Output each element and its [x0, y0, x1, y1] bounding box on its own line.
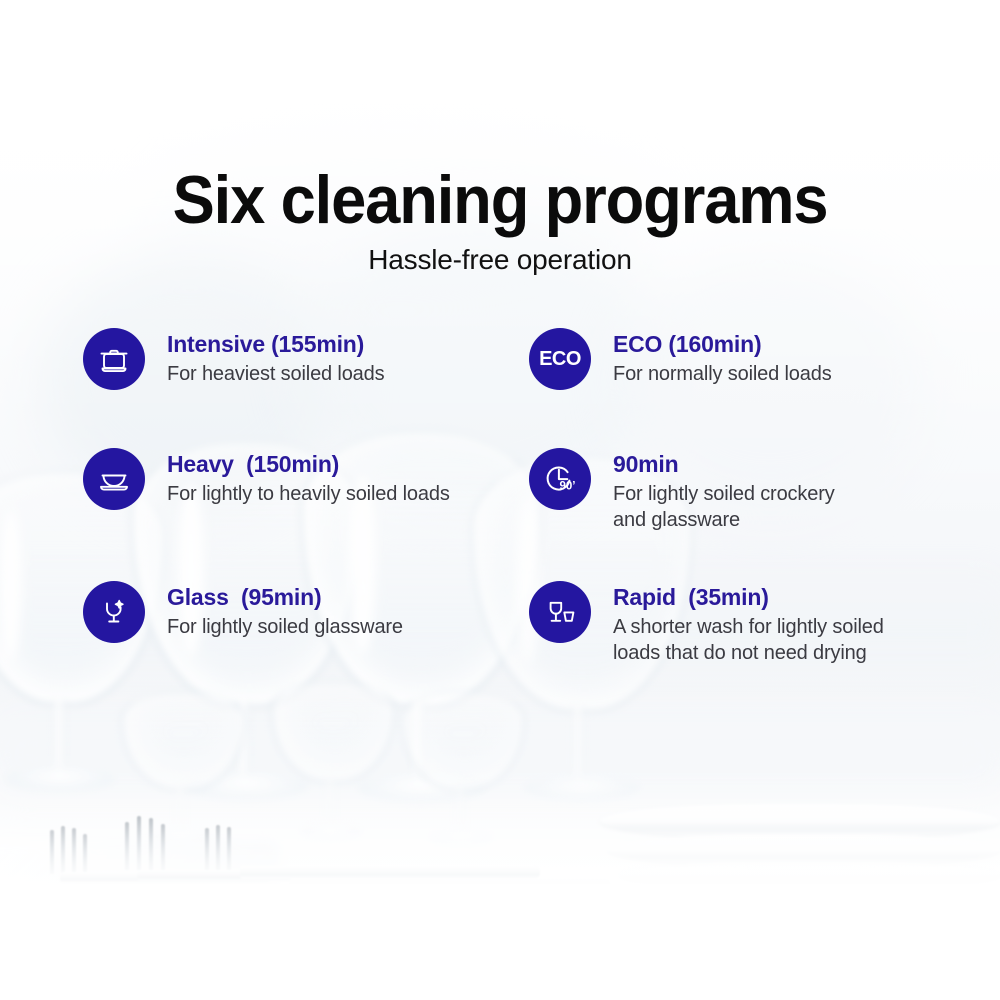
program-title: ECO (160min) — [613, 330, 832, 358]
program-item-intensive: Intensive (155min) For heaviest soiled l… — [83, 328, 384, 390]
bowl-plate-icon — [83, 448, 145, 510]
promo-banner: Six cleaning programs Hassle-free operat… — [0, 0, 1000, 1000]
program-title: 90min — [613, 450, 835, 478]
program-description: For lightly to heavily soiled loads — [167, 481, 450, 507]
program-texts: Heavy (150min) For lightly to heavily so… — [167, 448, 450, 507]
program-texts: ECO (160min) For normally soiled loads — [613, 328, 832, 387]
page-subtitle: Hassle-free operation — [0, 242, 1000, 278]
program-texts: Glass (95min) For lightly soiled glasswa… — [167, 581, 403, 640]
program-description: For lightly soiled crockery and glasswar… — [613, 481, 835, 533]
pot-icon — [83, 328, 145, 390]
eco-icon: ECO — [529, 328, 591, 390]
program-description: For lightly soiled glassware — [167, 614, 403, 640]
wine-glass-sparkle-icon — [83, 581, 145, 643]
svg-text:90’: 90’ — [560, 481, 576, 493]
program-item-rapid: Rapid (35min) A shorter wash for lightly… — [529, 581, 884, 666]
program-title: Glass (95min) — [167, 583, 403, 611]
clock-90-icon: 90’ — [529, 448, 591, 510]
program-title: Intensive (155min) — [167, 330, 384, 358]
program-item-heavy: Heavy (150min) For lightly to heavily so… — [83, 448, 450, 510]
program-title: Heavy (150min) — [167, 450, 450, 478]
program-description: A shorter wash for lightly soiled loads … — [613, 614, 884, 666]
program-texts: Intensive (155min) For heaviest soiled l… — [167, 328, 384, 387]
wine-glass-tumbler-icon — [529, 581, 591, 643]
program-texts: Rapid (35min) A shorter wash for lightly… — [613, 581, 884, 666]
program-item-eco: ECO ECO (160min) For normally soiled loa… — [529, 328, 832, 390]
program-texts: 90min For lightly soiled crockery and gl… — [613, 448, 835, 533]
program-description: For normally soiled loads — [613, 361, 832, 387]
program-item-90min: 90’ 90min For lightly soiled crockery an… — [529, 448, 835, 533]
program-description: For heaviest soiled loads — [167, 361, 384, 387]
program-title: Rapid (35min) — [613, 583, 884, 611]
page-title: Six cleaning programs — [35, 160, 965, 240]
eco-icon-label: ECO — [539, 349, 581, 369]
program-item-glass: Glass (95min) For lightly soiled glasswa… — [83, 581, 403, 643]
